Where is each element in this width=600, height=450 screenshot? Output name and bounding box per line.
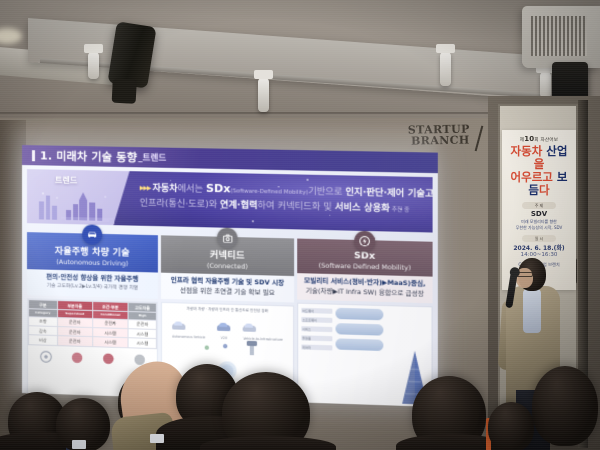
sdx-bar-list: 하드웨어 소프트웨어 서비스 플랫폼 데이터 <box>301 308 332 355</box>
sdx-bar-label-2: 서비스 <box>302 327 311 331</box>
header-accent-bar <box>32 150 35 161</box>
projection-screen: 1. 미래차 기술 동향 _트렌드 트렌드 <box>22 145 438 407</box>
name-badge <box>72 440 86 449</box>
poster-title-l2c: 다 <box>539 183 550 197</box>
table-body: 조향 운전자 운전자 운전자 감속 운전자 시스템 시스템 <box>28 316 156 348</box>
banner-l2-e: 추진 중 <box>390 207 410 214</box>
slide-body: 트렌드 <box>22 165 438 407</box>
presenter-shirt <box>523 289 541 333</box>
sdx-cloud-list <box>336 308 384 355</box>
traffic-signal-icon <box>162 338 293 358</box>
poster-topic-sub-1: 미래 모빌리티를 향한 <box>506 219 572 224</box>
car-icon <box>243 325 256 331</box>
car-icon <box>172 323 185 329</box>
banner-l1-e: 기술고도화 <box>404 189 432 200</box>
banner-l1-a: 자동차 <box>152 184 177 195</box>
column-3-desc-sub: 기술(차량▶IT Infra SW) 융합으로 급성장 <box>300 286 429 299</box>
slide-number: 1. <box>40 149 52 162</box>
steering-wheel-icon <box>38 349 52 363</box>
slide-title: 미래차 기술 동향 <box>56 148 137 166</box>
poster-kicker-post: 회 자산어보 <box>534 138 558 143</box>
cell-r2c3: 시스템 <box>128 338 156 348</box>
poster-time: 14:00~16:30 <box>506 252 572 258</box>
column-1-description: 편의·안전성 향상을 위한 자율주행 기술 고도화(Lv.2▶Lv.3/4) 국… <box>27 269 158 299</box>
column-2-description: 인프라 협력 자율주행 기술 및 SDV 시장 선점을 위한 초연결 기술 확보… <box>161 273 294 303</box>
banner-l1-sdx-paren: (Software-Defined Mobility) <box>231 188 309 196</box>
cell-r2c0: 비상 <box>28 335 57 345</box>
banner-l1-c: 기반으로 <box>308 187 345 198</box>
audience-head <box>488 402 534 450</box>
cell-r2c2: 시스템 <box>92 337 128 347</box>
poster-date: 2024. 6. 18.(화) <box>506 243 572 252</box>
sdx-bar-label-4: 데이터 <box>302 345 311 349</box>
column-1-desc-sub: 기술 고도화(Lv.2▶Lv.3/4) 국가적 경쟁 치열 <box>30 282 155 293</box>
banner-l1-sdx: SDx <box>206 182 231 196</box>
column-1-desc-main: 편의·안전성 향상을 위한 자율주행 <box>46 273 138 283</box>
trend-banner-main: ▸▸▸자동차에서는 SDx(Software-Defined Mobility)… <box>113 171 432 233</box>
track-light-4 <box>540 72 551 98</box>
projector-unit <box>522 6 600 68</box>
column-sdx: SDx (Software Defined Mobility) 모빌리티 서비스… <box>297 239 432 408</box>
cloud-icon-2 <box>336 338 384 351</box>
poster-title-line1: 자동차 산업을 <box>506 145 572 171</box>
autonomy-levels-table: 구분 부분자율 조건·부분 고도자율 Category Supervised C… <box>28 299 157 348</box>
poster-date-pill: 일 시 <box>522 235 556 242</box>
eyes-off-icon <box>101 351 115 366</box>
sdx-bar-1: 소프트웨어 <box>301 317 332 323</box>
sdx-bar-3: 플랫폼 <box>301 335 332 341</box>
diagram-vehicle-1: Autonomous Vehicle <box>172 314 205 339</box>
cloud-icon-0 <box>336 308 384 321</box>
poster-kicker: 제10회 자산어보 <box>506 135 572 143</box>
diagram-vehicle-row: Autonomous Vehicle V2V Vehicle-to-Infras… <box>162 311 293 342</box>
column-2-desc-main: 인프라 협력 자율주행 기술 및 SDV 시장 <box>171 276 284 287</box>
banner-l1-d: 인지·판단·제어 <box>345 188 404 199</box>
column-3-description: 모빌리티 서비스(정비·반자)▶MaaS)중심, 기술(차량▶IT Infra … <box>297 273 432 303</box>
track-light-1 <box>88 52 99 79</box>
poster-topic: SDV <box>506 210 572 218</box>
banner-l1-b: 에서는 <box>178 184 206 195</box>
cloud-icon-1 <box>336 323 384 336</box>
poster-topic-pill: 주 제 <box>522 202 556 209</box>
hands-icon <box>70 350 84 364</box>
vent-grill-icon <box>531 16 587 56</box>
car-icon <box>217 325 230 331</box>
column-3-body: 하드웨어 소프트웨어 서비스 플랫폼 데이터 <box>297 303 432 407</box>
poster-kicker-number: 10 <box>524 135 534 143</box>
poster-title-l1b: 산업 <box>546 144 567 158</box>
sdx-bar-2: 서비스 <box>301 326 332 332</box>
sdx-bar-label-0: 하드웨어 <box>302 308 313 312</box>
banner-l2-c: 하여 커넥티드화 및 <box>258 201 335 213</box>
diagram-vehicle-2: V2V <box>217 316 230 341</box>
camera-icon <box>217 228 237 249</box>
diagram-vehicle-3: Vehicle-to-Infrastructure <box>243 316 283 342</box>
banner-l2-d: 서비스 상용화 <box>335 203 390 214</box>
sdx-icon <box>354 231 375 252</box>
track-light-2 <box>258 78 269 112</box>
trend-banner: 트렌드 <box>27 169 433 232</box>
sdx-bar-4: 데이터 <box>301 344 332 350</box>
car-icon <box>82 224 102 245</box>
slide-subtitle: _트렌드 <box>138 151 166 164</box>
cell-r2c1: 운전자 <box>57 336 92 346</box>
banner-l2-b: 연계·협력 <box>220 200 257 211</box>
banner-l2-a: 인프라(통신·도로)와 <box>140 198 220 210</box>
presentation-photo-scene: 제10회 자산어보 자동차 산업을 어우르고 보듬다 주 제 SDV 미래 모빌… <box>0 0 600 450</box>
poster-title: 자동차 산업을 어우르고 보듬다 <box>506 145 572 197</box>
sdx-bar-0: 하드웨어 <box>301 308 332 314</box>
banner-arrows-icon: ▸▸▸ <box>140 183 151 193</box>
name-badge <box>150 434 164 443</box>
sdx-bar-label-3: 플랫폼 <box>302 336 311 340</box>
sdx-bar-label-1: 소프트웨어 <box>302 318 316 322</box>
column-2-desc-sub: 선점을 위한 초연결 기술 확보 필요 <box>164 285 291 298</box>
poster-title-line2: 어우르고 보듬다 <box>506 171 572 197</box>
poster-topic-sub-2: 무한한 가능성의 시작, SDV <box>506 225 572 230</box>
track-light-3 <box>440 52 451 86</box>
trend-label: 트렌드 <box>55 175 77 186</box>
level-icons-row <box>28 345 157 367</box>
audience-head <box>532 366 598 446</box>
